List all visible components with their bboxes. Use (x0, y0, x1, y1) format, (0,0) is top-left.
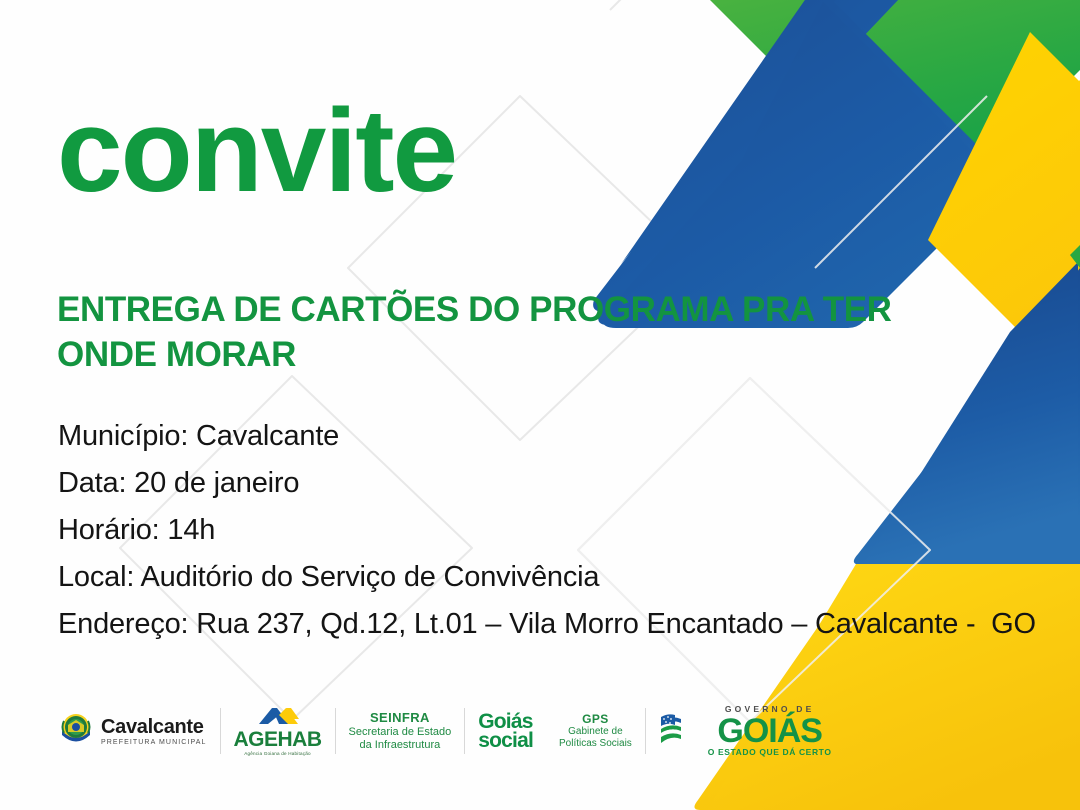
governo-tagline: O ESTADO QUE DÁ CERTO (708, 748, 832, 757)
event-subtitle: ENTREGA DE CARTÕES DO PROGRAMA PRA TER O… (57, 288, 937, 378)
gps-word: GPS (559, 712, 632, 726)
detail-endereco: Endereço: Rua 237, Qd.12, Lt.01 – Vila M… (58, 610, 1018, 639)
governo-main-label: GOIÁS (708, 716, 832, 747)
event-details: Município: Cavalcante Data: 20 de janeir… (58, 422, 1018, 657)
invitation-poster: convite ENTREGA DE CARTÕES DO PROGRAMA P… (0, 0, 1080, 810)
detail-data: Data: 20 de janeiro (58, 469, 1018, 498)
agehab-roof-icon (255, 711, 301, 728)
seinfra-line1: Secretaria de Estado (349, 726, 452, 739)
cavalcante-subtitle: PREFEITURA MUNICIPAL (101, 739, 207, 746)
page-title: convite (57, 92, 456, 210)
cavalcante-name: Cavalcante (101, 717, 207, 737)
detail-horario: Horário: 14h (58, 516, 1018, 545)
gps-line2: Políticas Sociais (559, 738, 632, 750)
detail-local: Local: Auditório do Serviço de Convivênc… (58, 563, 1018, 592)
logo-goias-social: Goiás social (465, 708, 546, 754)
logo-governo-goias: GOVERNO DE GOIÁS O ESTADO QUE DÁ CERTO (646, 708, 845, 754)
logo-bar: Cavalcante PREFEITURA MUNICIPAL (58, 700, 845, 762)
seinfra-line2: da Infraestrutura (349, 739, 452, 752)
goias-flag-icon (659, 709, 703, 754)
agehab-subtitle: Agência Goiana de Habitação (234, 752, 322, 757)
logo-seinfra: SEINFRA Secretaria de Estado da Infraest… (336, 708, 465, 754)
logo-cavalcante: Cavalcante PREFEITURA MUNICIPAL (58, 708, 220, 754)
agehab-word: AGEHAB (234, 729, 322, 750)
logo-agehab: AGEHAB Agência Goiana de Habitação (221, 708, 335, 754)
cavalcante-crest-icon (58, 711, 94, 752)
seinfra-word: SEINFRA (349, 710, 452, 726)
goias-social-line2: social (478, 731, 533, 750)
detail-municipio: Município: Cavalcante (58, 422, 1018, 451)
logo-gps: GPS Gabinete de Políticas Sociais (546, 708, 645, 754)
gps-line1: Gabinete de (559, 726, 632, 738)
